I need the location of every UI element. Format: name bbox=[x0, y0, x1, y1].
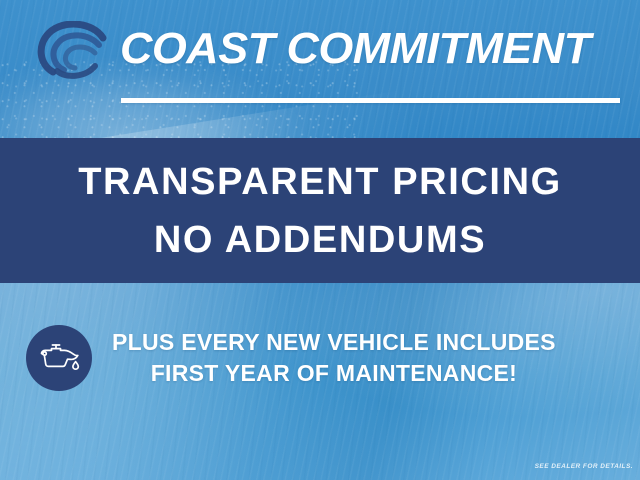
promo-section: PLUS EVERY NEW VEHICLE INCLUDES FIRST YE… bbox=[0, 283, 640, 480]
banner-header: COAST COMMITMENT bbox=[0, 0, 640, 138]
headline-band: TRANSPARENT PRICING NO ADDENDUMS bbox=[0, 138, 640, 283]
headline-line-1: TRANSPARENT PRICING bbox=[78, 153, 562, 211]
header-divider bbox=[121, 98, 620, 103]
page-title: COAST COMMITMENT bbox=[120, 23, 640, 75]
disclaimer-text: SEE DEALER FOR DETAILS. bbox=[535, 463, 633, 470]
promo-content: PLUS EVERY NEW VEHICLE INCLUDES FIRST YE… bbox=[26, 325, 556, 391]
promo-line-1: PLUS EVERY NEW VEHICLE INCLUDES bbox=[112, 327, 556, 358]
promo-text-block: PLUS EVERY NEW VEHICLE INCLUDES FIRST YE… bbox=[112, 327, 556, 389]
coast-commitment-banner: COAST COMMITMENT TRANSPARENT PRICING NO … bbox=[0, 0, 640, 480]
promo-line-2: FIRST YEAR OF MAINTENANCE! bbox=[112, 358, 556, 389]
coast-wave-swoosh-logo-icon bbox=[33, 21, 107, 89]
headline-line-2: NO ADDENDUMS bbox=[154, 211, 486, 269]
oil-can-icon bbox=[26, 325, 92, 391]
